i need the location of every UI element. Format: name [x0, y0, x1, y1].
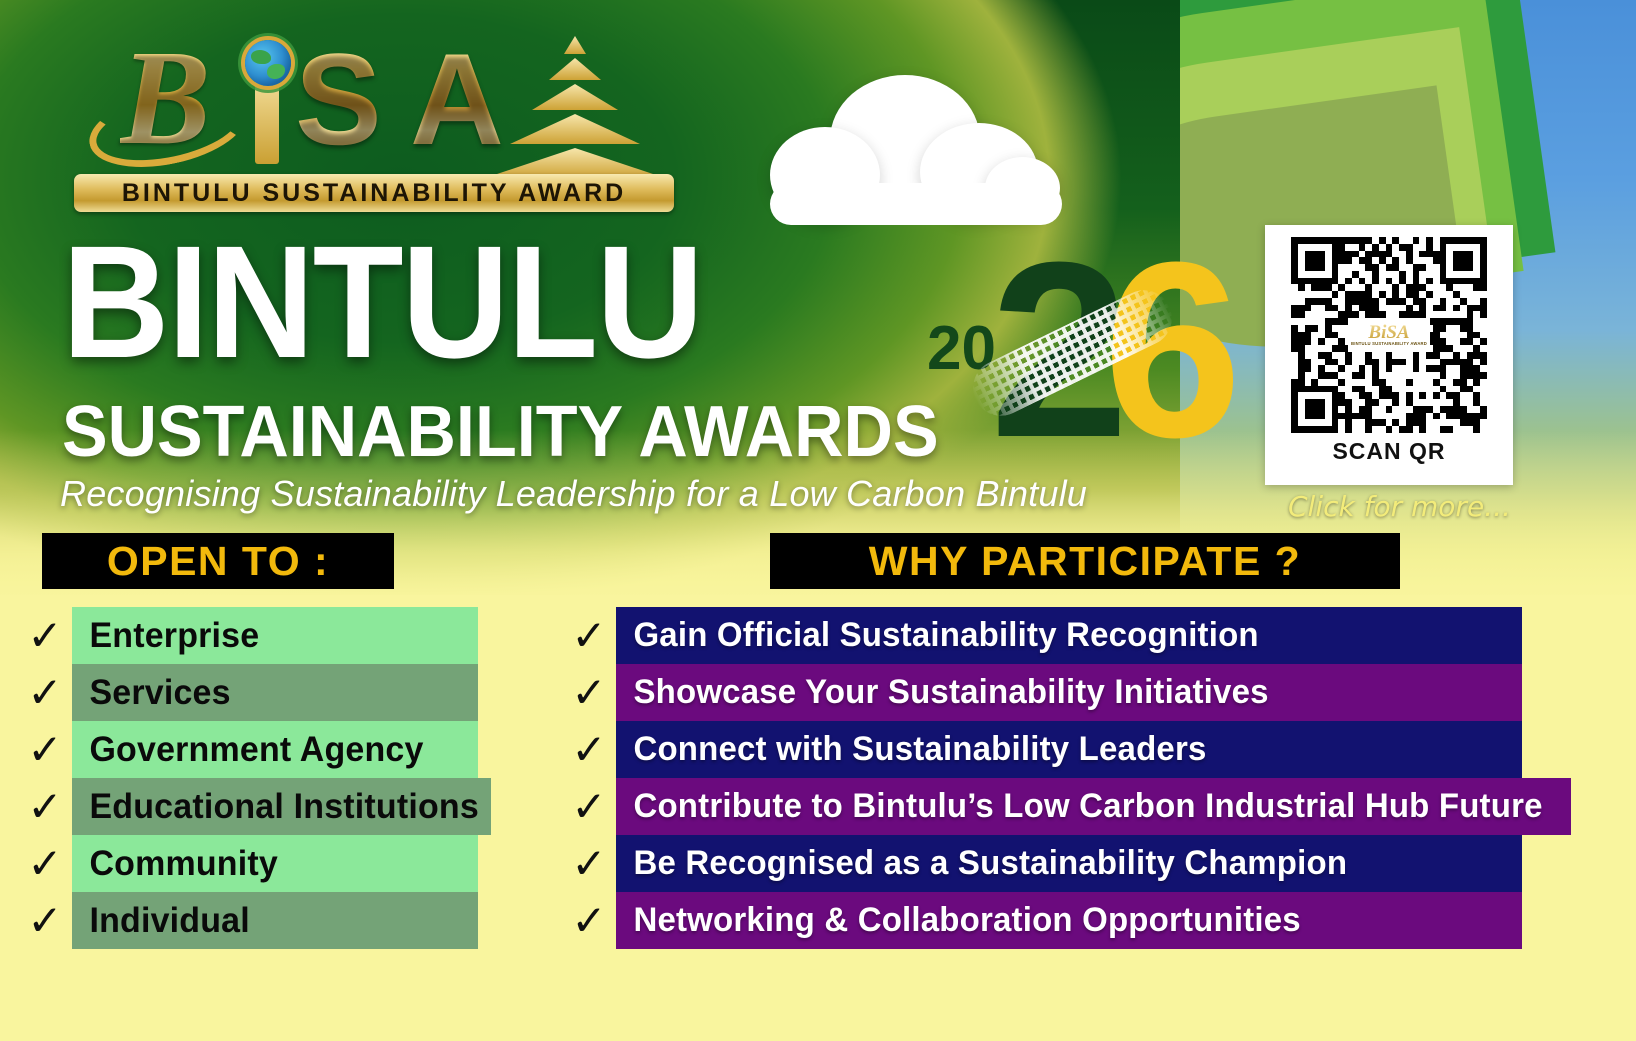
logo-wordmark-text: BINTULU SUSTAINABILITY AWARD: [122, 179, 626, 208]
list-item: ✓Be Recognised as a Sustainability Champ…: [562, 835, 1522, 892]
section-header-why-participate-label: WHY PARTICIPATE ?: [869, 538, 1301, 585]
list-item: ✓Services: [18, 664, 478, 721]
logo-wordmark-bar: BINTULU SUSTAINABILITY AWARD: [74, 174, 674, 212]
check-icon: ✓: [18, 786, 72, 828]
qr-label: SCAN QR: [1332, 438, 1445, 465]
list-item: ✓Contribute to Bintulu’s Low Carbon Indu…: [562, 778, 1522, 835]
logo-letter-b: B: [120, 30, 211, 166]
check-icon: ✓: [562, 672, 616, 714]
page-title: BINTULU: [62, 225, 702, 379]
open-to-row-5: Community: [72, 835, 478, 892]
list-item: ✓Gain Official Sustainability Recognitio…: [562, 607, 1522, 664]
check-icon: ✓: [18, 615, 72, 657]
section-header-open-to-label: OPEN TO :: [107, 538, 329, 585]
section-header-why-participate: WHY PARTICIPATE ?: [770, 533, 1400, 589]
qr-embedded-logo: BiSA BINTULU SUSTAINABILITY AWARD: [1348, 318, 1430, 352]
list-item: ✓Educational Institutions: [18, 778, 478, 835]
list-item: ✓Connect with Sustainability Leaders: [562, 721, 1522, 778]
list-item-label: Networking & Collaboration Opportunities: [616, 901, 1301, 940]
qr-embedded-logo-text: BiSA: [1368, 323, 1409, 342]
globe-icon: [245, 40, 291, 86]
why-participate-row-1: Gain Official Sustainability Recognition: [616, 607, 1522, 664]
why-participate-row-2: Showcase Your Sustainability Initiatives: [616, 664, 1522, 721]
why-participate-row-6: Networking & Collaboration Opportunities: [616, 892, 1522, 949]
bisa-logo-mark: B S A: [70, 22, 670, 172]
list-item: ✓Government Agency: [18, 721, 478, 778]
open-to-row-4: Educational Institutions: [72, 778, 491, 835]
qr-embedded-logo-sub: BINTULU SUSTAINABILITY AWARD: [1351, 342, 1427, 346]
check-icon: ✓: [562, 843, 616, 885]
list-item-label: Educational Institutions: [72, 787, 479, 827]
list-item-label: Individual: [72, 901, 250, 941]
qr-code-card[interactable]: BiSA BINTULU SUSTAINABILITY AWARD SCAN Q…: [1265, 225, 1513, 485]
list-item-label: Services: [72, 673, 231, 713]
list-item-label: Showcase Your Sustainability Initiatives: [616, 673, 1269, 712]
logo-letter-s: S: [295, 34, 382, 164]
check-icon: ✓: [18, 729, 72, 771]
list-item: ✓Community: [18, 835, 478, 892]
list-item-label: Contribute to Bintulu’s Low Carbon Indus…: [616, 787, 1543, 826]
list-item-label: Be Recognised as a Sustainability Champi…: [616, 844, 1347, 883]
check-icon: ✓: [562, 786, 616, 828]
check-icon: ✓: [18, 843, 72, 885]
open-to-row-3: Government Agency: [72, 721, 478, 778]
list-item-label: Community: [72, 844, 278, 884]
page-subtitle: SUSTAINABILITY AWARDS: [62, 396, 939, 468]
list-item: ✓Showcase Your Sustainability Initiative…: [562, 664, 1522, 721]
check-icon: ✓: [562, 615, 616, 657]
list-item-label: Gain Official Sustainability Recognition: [616, 616, 1259, 655]
qr-cta-text[interactable]: Click for more...: [1288, 490, 1511, 523]
pyramid-icon: [485, 36, 665, 176]
open-to-row-1: Enterprise: [72, 607, 478, 664]
why-participate-list: ✓Gain Official Sustainability Recognitio…: [562, 607, 1522, 949]
list-item: ✓Networking & Collaboration Opportunitie…: [562, 892, 1522, 949]
year-badge: 2 6 20: [915, 240, 1215, 490]
why-participate-row-4: Contribute to Bintulu’s Low Carbon Indus…: [616, 778, 1571, 835]
qr-code-image[interactable]: BiSA BINTULU SUSTAINABILITY AWARD: [1291, 237, 1487, 433]
list-item-label: Enterprise: [72, 616, 259, 656]
section-header-open-to: OPEN TO :: [42, 533, 394, 589]
list-item-label: Government Agency: [72, 730, 424, 770]
list-item: ✓Individual: [18, 892, 478, 949]
check-icon: ✓: [18, 900, 72, 942]
bisa-logo[interactable]: B S A BINTULU SUSTAINABILITY AWARD: [70, 22, 670, 217]
list-item: ✓Enterprise: [18, 607, 478, 664]
open-to-row-2: Services: [72, 664, 478, 721]
why-participate-row-3: Connect with Sustainability Leaders: [616, 721, 1522, 778]
check-icon: ✓: [18, 672, 72, 714]
cloud-graphic: [770, 75, 1060, 225]
check-icon: ✓: [562, 729, 616, 771]
check-icon: ✓: [562, 900, 616, 942]
open-to-list: ✓Enterprise✓Services✓Government Agency✓E…: [18, 607, 478, 949]
why-participate-row-5: Be Recognised as a Sustainability Champi…: [616, 835, 1522, 892]
open-to-row-6: Individual: [72, 892, 478, 949]
poster-root: B S A BINTULU SUSTAINABILITY AWARD BINTU…: [0, 0, 1636, 1041]
list-item-label: Connect with Sustainability Leaders: [616, 730, 1207, 769]
